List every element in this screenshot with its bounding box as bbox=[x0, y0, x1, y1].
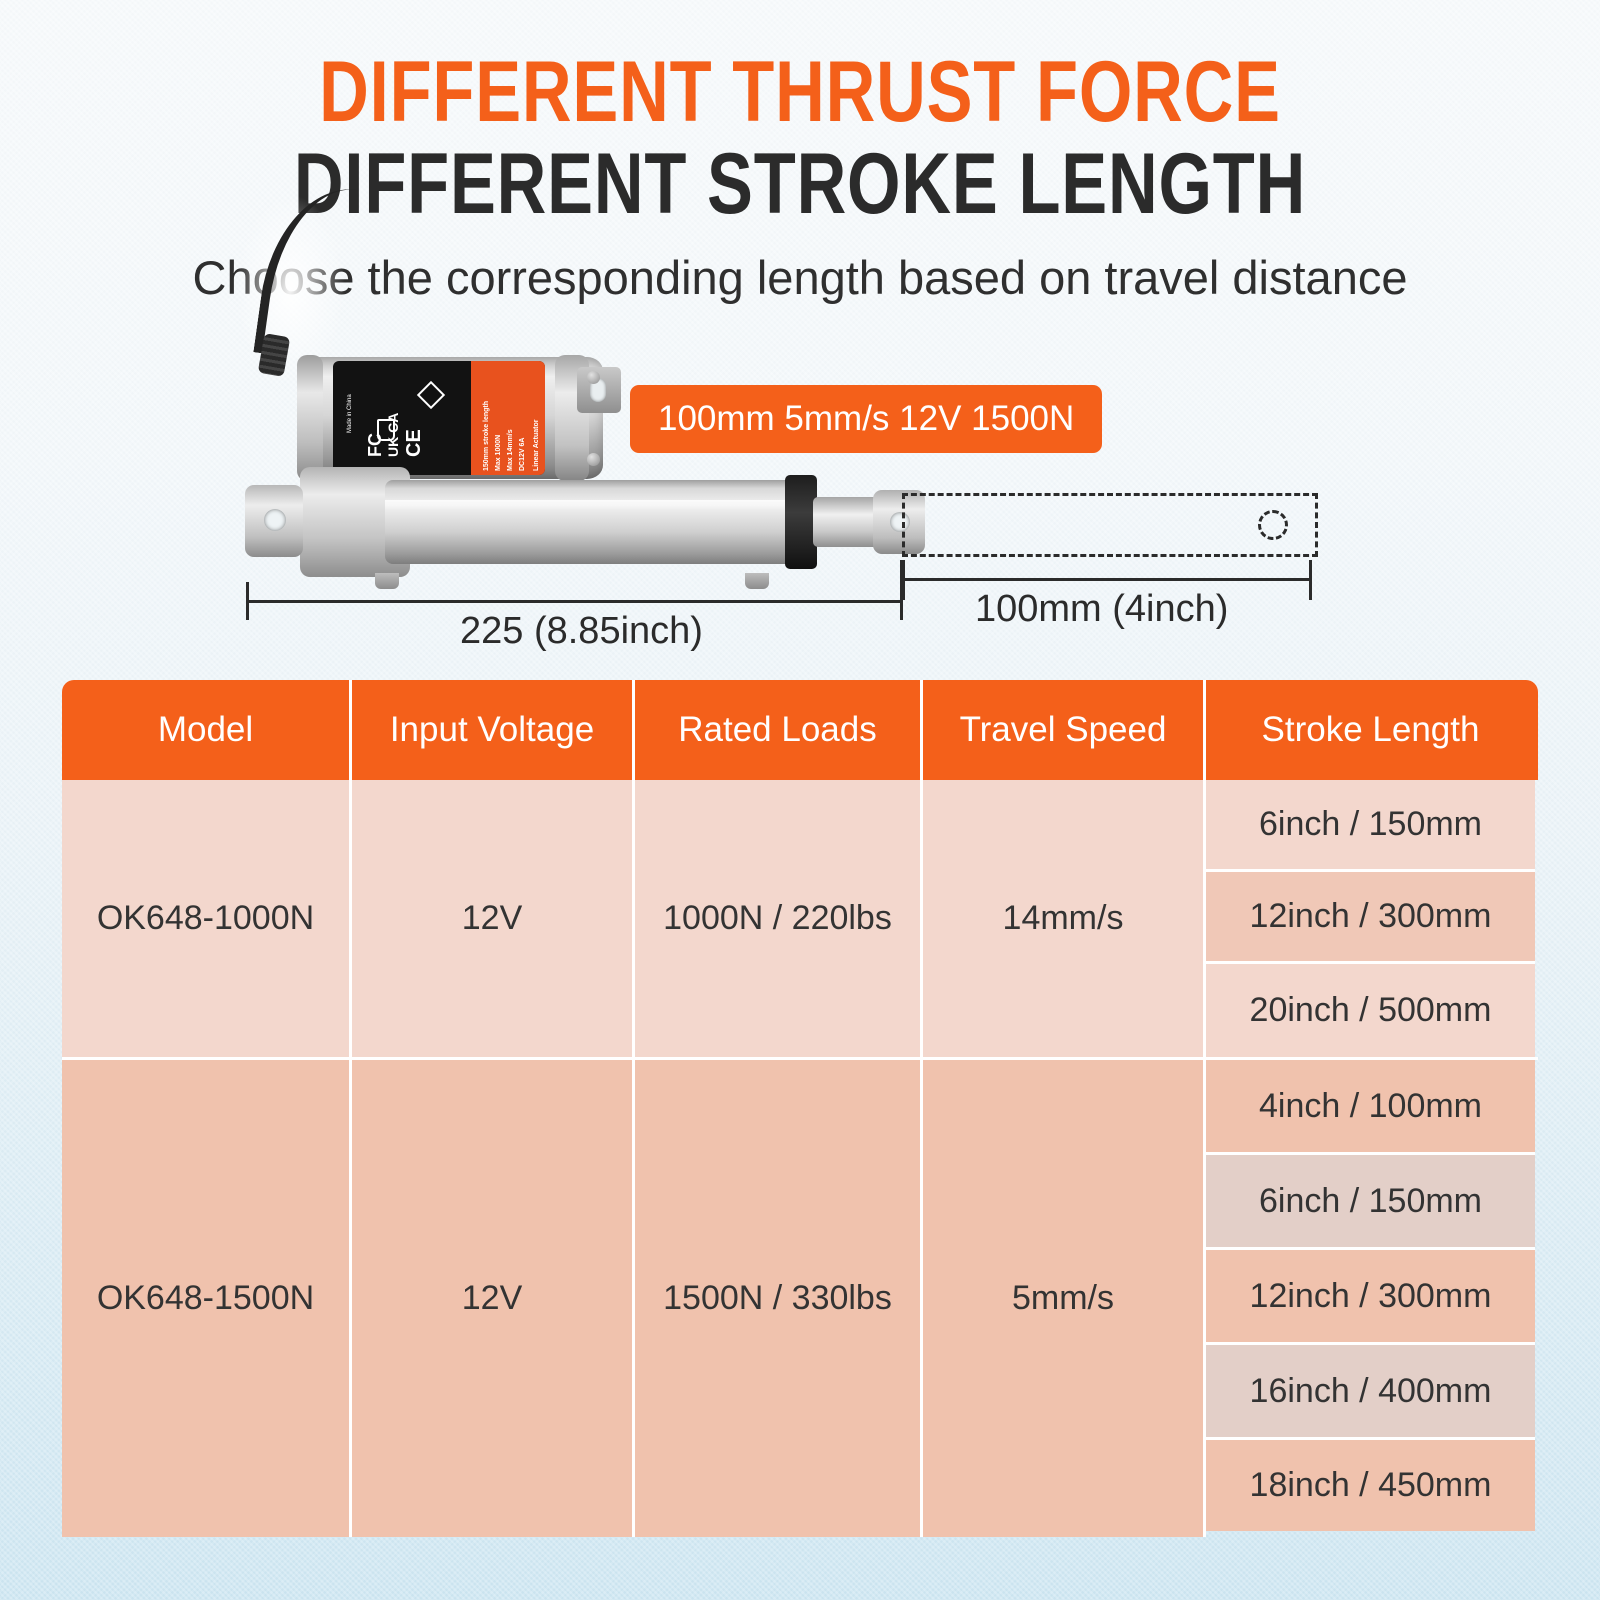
cell-travel-speed: 5mm/s bbox=[923, 1060, 1206, 1537]
stroke-option: 12inch / 300mm bbox=[1206, 872, 1535, 964]
cell-rated-loads: 1500N / 330lbs bbox=[635, 1060, 923, 1537]
table-row: OK648-1000N 12V 1000N / 220lbs 14mm/s 6i… bbox=[62, 780, 1538, 1060]
cell-travel-speed: 14mm/s bbox=[923, 780, 1206, 1057]
stroke-option: 18inch / 450mm bbox=[1206, 1440, 1535, 1531]
column-header-travel-speed: Travel Speed bbox=[923, 680, 1206, 780]
screw-icon-2 bbox=[587, 453, 600, 466]
stroke-dimension-label: 100mm (4inch) bbox=[975, 588, 1228, 631]
rear-mount-bracket bbox=[245, 485, 303, 557]
label-spec-line-3: Max 1000N bbox=[495, 435, 503, 471]
cell-stroke-length-list: 6inch / 150mm 12inch / 300mm 20inch / 50… bbox=[1206, 780, 1535, 1057]
cell-input-voltage: 12V bbox=[352, 1060, 635, 1537]
label-spec-line-4: 150mm stroke length bbox=[483, 401, 491, 471]
motor-spec-label: Linear Actuator DC12V 6A Max 14mm/s Max … bbox=[333, 361, 545, 475]
tube-foot-1 bbox=[375, 573, 399, 589]
class-ii-icon bbox=[417, 381, 445, 409]
motor-end-cap-left bbox=[297, 355, 323, 481]
body-dimension-line bbox=[246, 600, 903, 603]
cell-rated-loads: 1000N / 220lbs bbox=[635, 780, 923, 1057]
body-dimension-label: 225 (8.85inch) bbox=[460, 610, 703, 653]
stroke-extension-outline bbox=[902, 493, 1318, 557]
label-brand-text: Linear Actuator bbox=[533, 420, 541, 471]
label-spec-line-2: Max 14mm/s bbox=[507, 429, 515, 471]
table-row: OK648-1500N 12V 1500N / 330lbs 5mm/s 4in… bbox=[62, 1060, 1538, 1537]
column-header-stroke-length: Stroke Length bbox=[1206, 680, 1535, 780]
stroke-option: 16inch / 400mm bbox=[1206, 1345, 1535, 1440]
tube-foot-2 bbox=[745, 573, 769, 589]
actuator-tube bbox=[385, 480, 797, 564]
spec-callout-badge: 100mm 5mm/s 12V 1500N bbox=[630, 385, 1102, 453]
extension-hole-outline bbox=[1258, 510, 1288, 540]
headline-primary: DIFFERENT THRUST FORCE bbox=[160, 46, 1440, 138]
label-origin-text: Made in China bbox=[347, 394, 354, 433]
table-header-row: Model Input Voltage Rated Loads Travel S… bbox=[62, 680, 1538, 780]
stroke-option: 6inch / 150mm bbox=[1206, 780, 1535, 872]
ce-mark-icon: CE bbox=[403, 429, 426, 457]
weee-bin-icon bbox=[377, 419, 395, 441]
stroke-dimension-tick-right bbox=[1309, 560, 1312, 600]
cell-input-voltage: 12V bbox=[352, 780, 635, 1057]
column-header-model: Model bbox=[62, 680, 352, 780]
screw-icon-1 bbox=[587, 371, 600, 384]
body-dimension-tick-left bbox=[246, 582, 249, 620]
cell-stroke-length-list: 4inch / 100mm 6inch / 150mm 12inch / 300… bbox=[1206, 1060, 1535, 1537]
stroke-option: 6inch / 150mm bbox=[1206, 1155, 1535, 1250]
stroke-dimension-line bbox=[902, 578, 1312, 581]
stroke-option: 20inch / 500mm bbox=[1206, 964, 1535, 1057]
body-dimension-tick-right bbox=[900, 560, 903, 620]
column-header-rated-loads: Rated Loads bbox=[635, 680, 923, 780]
column-header-input-voltage: Input Voltage bbox=[352, 680, 635, 780]
cell-model: OK648-1500N bbox=[62, 1060, 352, 1537]
cell-model: OK648-1000N bbox=[62, 780, 352, 1057]
stroke-option: 12inch / 300mm bbox=[1206, 1250, 1535, 1345]
stroke-option: 4inch / 100mm bbox=[1206, 1060, 1535, 1155]
spec-table: Model Input Voltage Rated Loads Travel S… bbox=[62, 680, 1538, 1537]
label-spec-line-1: DC12V 6A bbox=[519, 438, 527, 471]
